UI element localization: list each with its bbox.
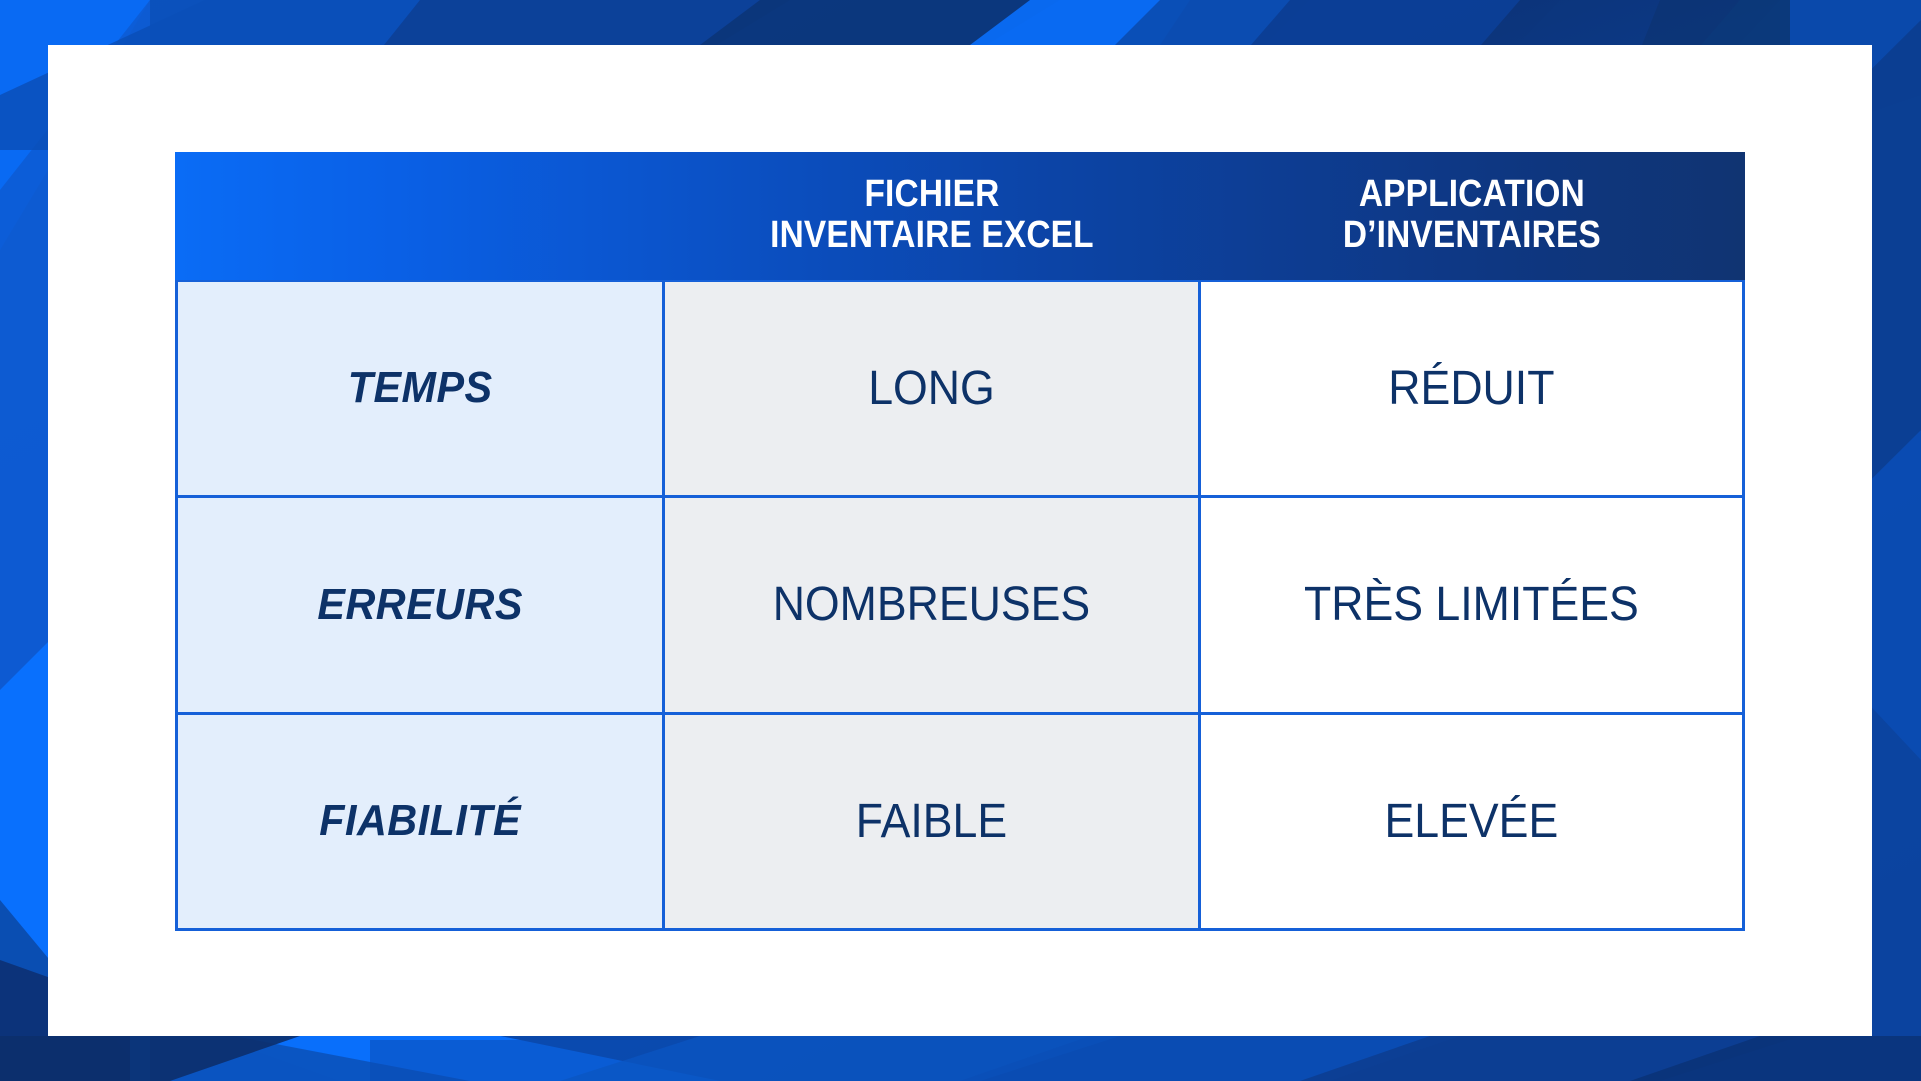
- cell-erreurs-app: TRÈS LIMITÉES: [1200, 497, 1744, 714]
- row-label-erreurs: ERREURS: [177, 497, 664, 714]
- table-header: FICHIER INVENTAIRE EXCEL APPLICATION D’I…: [177, 152, 1744, 280]
- cell-value-text: ELEVÉE: [1229, 794, 1713, 849]
- row-label-fiabilite: FIABILITÉ: [177, 713, 664, 930]
- comparison-table-container: FICHIER INVENTAIRE EXCEL APPLICATION D’I…: [175, 152, 1745, 930]
- cell-erreurs-excel: NOMBREUSES: [664, 497, 1200, 714]
- cell-temps-app: RÉDUIT: [1200, 280, 1744, 497]
- table-row: ERREURS NOMBREUSES TRÈS LIMITÉES: [177, 497, 1744, 714]
- cell-value-text: FAIBLE: [693, 794, 1170, 849]
- cell-fiabilite-app: ELEVÉE: [1200, 713, 1744, 930]
- header-cell-criteria: [177, 152, 664, 280]
- content-card: FICHIER INVENTAIRE EXCEL APPLICATION D’I…: [48, 45, 1872, 1036]
- row-label-text: TEMPS: [202, 363, 638, 413]
- row-label-temps: TEMPS: [177, 280, 664, 497]
- header-label-inventory-app: APPLICATION D’INVENTAIRES: [1232, 174, 1711, 256]
- table-row: TEMPS LONG RÉDUIT: [177, 280, 1744, 497]
- header-cell-inventory-app: APPLICATION D’INVENTAIRES: [1200, 152, 1744, 280]
- header-cell-excel-file: FICHIER INVENTAIRE EXCEL: [664, 152, 1200, 280]
- cell-value-text: TRÈS LIMITÉES: [1229, 577, 1713, 632]
- cell-fiabilite-excel: FAIBLE: [664, 713, 1200, 930]
- row-label-text: FIABILITÉ: [202, 796, 638, 846]
- comparison-table: FICHIER INVENTAIRE EXCEL APPLICATION D’I…: [175, 152, 1745, 931]
- row-label-text: ERREURS: [202, 580, 638, 630]
- table-body: TEMPS LONG RÉDUIT ERREURS NOMBREUSES: [177, 280, 1744, 930]
- table-row: FIABILITÉ FAIBLE ELEVÉE: [177, 713, 1744, 930]
- table-header-row: FICHIER INVENTAIRE EXCEL APPLICATION D’I…: [177, 152, 1744, 280]
- header-label-excel-file: FICHIER INVENTAIRE EXCEL: [696, 174, 1168, 256]
- cell-temps-excel: LONG: [664, 280, 1200, 497]
- cell-value-text: NOMBREUSES: [693, 577, 1170, 632]
- cell-value-text: LONG: [693, 361, 1170, 416]
- cell-value-text: RÉDUIT: [1229, 361, 1713, 416]
